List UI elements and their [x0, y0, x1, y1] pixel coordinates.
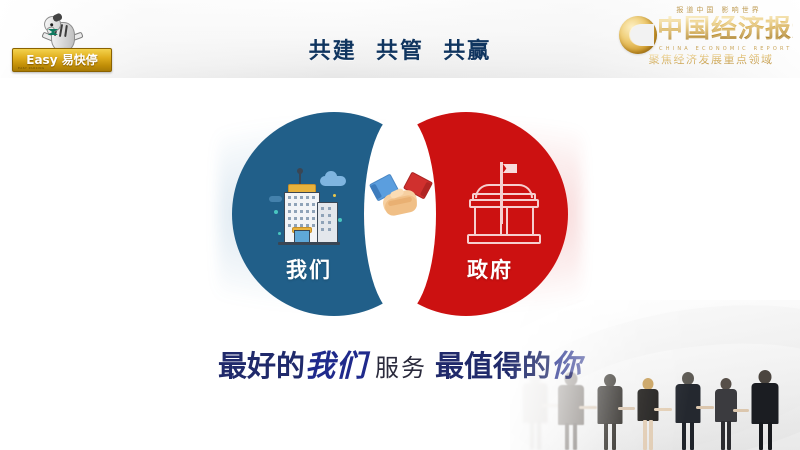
person-leg [759, 422, 763, 450]
media-logo[interactable]: 报道中国 影响世界 中国经济报道 CHINA ECONOMIC REPORT 聚… [613, 4, 795, 70]
cloud-icon [269, 196, 282, 202]
venn-label-left: 我们 [254, 254, 364, 284]
person-body [715, 389, 737, 422]
brand-banner-sublabel: EASY PARKING [18, 66, 45, 70]
person-silhouette [634, 378, 662, 450]
person-leg [649, 420, 653, 450]
tagline-emphasis1: 我们 [305, 349, 367, 384]
person-head [565, 372, 578, 386]
cloud-icon [320, 176, 346, 186]
person-leg [604, 423, 608, 450]
decor-dot [333, 194, 336, 197]
person-silhouette [748, 370, 782, 450]
gov-colonnade-right [506, 206, 534, 236]
person-head [759, 370, 772, 384]
person-body [598, 386, 623, 424]
person-leg [690, 422, 694, 450]
person-leg [537, 421, 541, 450]
person-leg [682, 422, 686, 450]
media-logo-english: CHINA ECONOMIC REPORT [659, 46, 791, 52]
gov-colonnade-left [474, 206, 502, 236]
person-leg [530, 421, 534, 450]
photo-people-row [518, 364, 800, 450]
person-leg [643, 420, 647, 450]
media-logo-c-monogram-icon [619, 16, 657, 54]
decor-dot [278, 232, 281, 235]
tagline-part1: 最好的 [218, 349, 305, 383]
person-silhouette [594, 374, 626, 450]
venn-diagram: 我们 政府 [232, 112, 568, 316]
person-body [558, 385, 584, 425]
person-body [523, 383, 548, 423]
person-body [676, 384, 701, 423]
government-building-icon [462, 162, 542, 248]
slide-canvas: 共建 共管 共赢 Easy 易快停 EASY PARKING [0, 0, 800, 450]
venn-label-right: 政府 [435, 254, 545, 284]
person-leg [768, 422, 772, 450]
person-leg [721, 421, 725, 450]
person-silhouette [672, 372, 704, 450]
decor-dot [338, 218, 342, 222]
person-head [529, 370, 542, 384]
person-silhouette [554, 372, 588, 450]
person-leg [727, 421, 731, 450]
handshake-icon [372, 172, 430, 228]
person-silhouette [518, 370, 552, 450]
gov-base [467, 234, 541, 244]
person-body [638, 389, 659, 421]
building-wing [317, 202, 338, 244]
flag-icon [503, 164, 517, 173]
brand-logo[interactable]: Easy 易快停 EASY PARKING [12, 14, 110, 76]
person-arm [618, 407, 635, 410]
person-leg [573, 423, 577, 450]
brand-banner: Easy 易快停 EASY PARKING [12, 48, 112, 72]
person-arm [733, 409, 749, 412]
media-logo-title: 中国经济报道 [657, 16, 793, 42]
brand-banner-label: Easy 易快停 [26, 54, 97, 66]
tagline-middle: 服务 [367, 354, 435, 382]
decor-dot [274, 210, 278, 214]
person-leg [565, 423, 569, 450]
person-leg [612, 423, 616, 450]
office-building-icon [272, 166, 344, 248]
people-holding-hands-photo [510, 300, 800, 450]
person-body [752, 383, 779, 424]
antenna-icon [299, 170, 301, 185]
media-logo-subtitle: 聚焦经济发展重点领域 [631, 54, 791, 65]
person-arm [654, 408, 672, 411]
person-silhouette [712, 378, 740, 450]
building-base [278, 242, 340, 245]
